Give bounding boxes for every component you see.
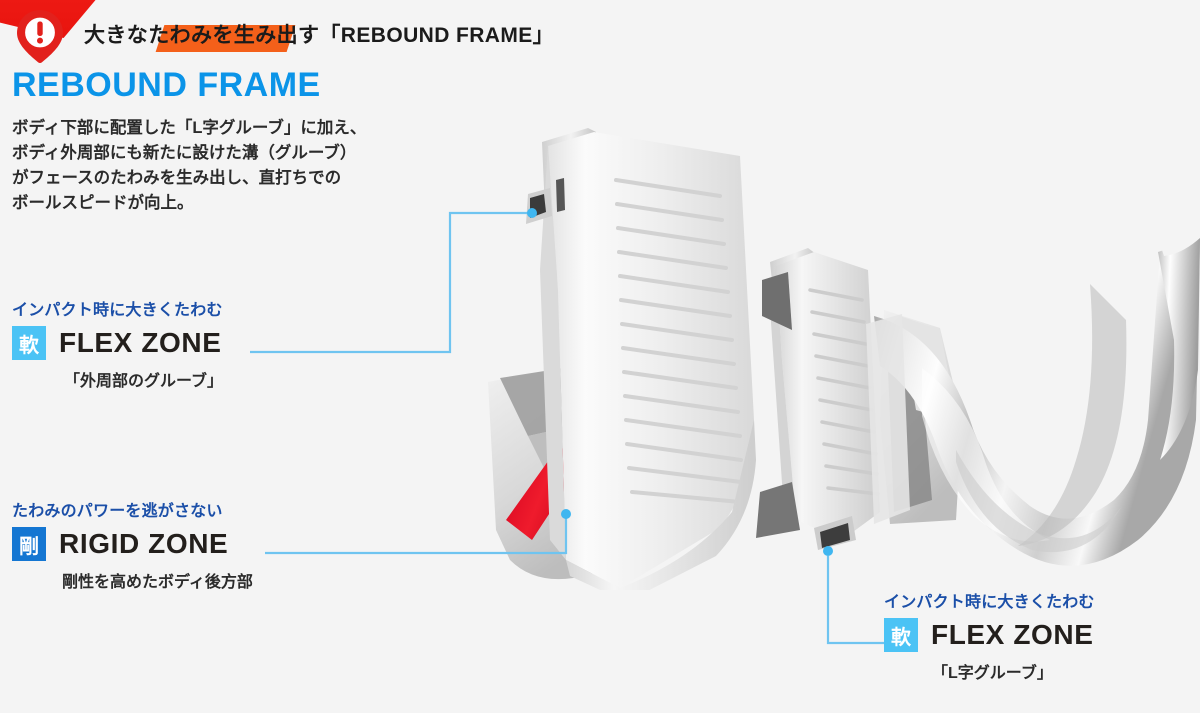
callout-flex-zone-lower: インパクト時に大きくたわむ 軟 FLEX ZONE 「L字グルーブ」 [884, 588, 1095, 683]
callout-rigid-zone: たわみのパワーを逃がさない 剛 RIGID ZONE 剛性を高めたボディ後方部 [12, 497, 253, 592]
leader-dot-flex-upper [527, 208, 537, 218]
callout-kicker: インパクト時に大きくたわむ [884, 588, 1095, 612]
zone-name: RIGID ZONE [59, 528, 228, 560]
callout-subtext: 「外周部のグルーブ」 [12, 367, 223, 391]
badge-soft-icon: 軟 [12, 326, 46, 360]
rebound-frame-infographic: 大きなたわみを生み出す「REBOUND FRAME」 REBOUND FRAME… [0, 0, 1200, 713]
callout-flex-zone-upper: インパクト時に大きくたわむ 軟 FLEX ZONE 「外周部のグルーブ」 [12, 296, 223, 391]
leader-dot-rigid [561, 509, 571, 519]
badge-soft-icon: 軟 [884, 618, 918, 652]
zone-row: 剛 RIGID ZONE [12, 527, 253, 561]
leader-line-rigid [265, 518, 566, 553]
callout-kicker: たわみのパワーを逃がさない [12, 497, 253, 521]
zone-row: 軟 FLEX ZONE [884, 618, 1095, 652]
callout-kicker: インパクト時に大きくたわむ [12, 296, 223, 320]
badge-rigid-icon: 剛 [12, 527, 46, 561]
callout-subtext: 「L字グルーブ」 [884, 659, 1095, 683]
leader-line-flex-lower [828, 556, 884, 643]
leader-line-flex-upper [250, 213, 528, 352]
zone-name: FLEX ZONE [59, 327, 222, 359]
leader-dot-flex-lower [823, 546, 833, 556]
zone-row: 軟 FLEX ZONE [12, 326, 223, 360]
callout-subtext: 剛性を高めたボディ後方部 [12, 568, 253, 592]
zone-name: FLEX ZONE [931, 619, 1094, 651]
